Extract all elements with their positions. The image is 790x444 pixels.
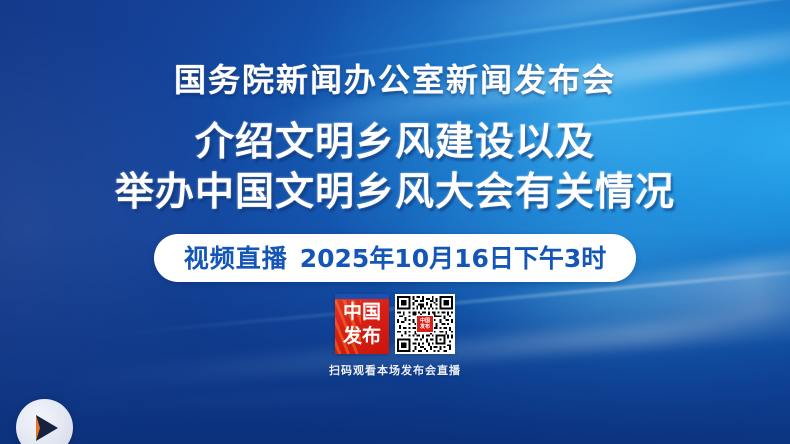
play-icon (36, 415, 58, 441)
broadcast-poster: 国务院新闻办公室新闻发布会 介绍文明乡风建设以及 举办中国文明乡风大会有关情况 … (0, 0, 790, 444)
logo-line-1: 中国 (335, 303, 389, 322)
live-broadcast-badge: 视频直播 2025年10月16日下午3时 (154, 234, 637, 282)
brand-and-qr-group: 中国 发布 (335, 294, 455, 354)
qr-center-line-2: 发布 (420, 324, 430, 330)
poster-subtitle-line-2: 举办中国文明乡风大会有关情况 (115, 168, 675, 218)
live-badge-label: 视频直播 (184, 239, 288, 275)
china-release-logo: 中国 发布 (335, 294, 389, 354)
qr-center-logo: 中国 发布 (416, 315, 434, 333)
qr-code[interactable]: 中国 发布 (395, 294, 455, 354)
live-badge-datetime: 2025年10月16日下午3时 (300, 239, 607, 275)
poster-subtitle: 介绍文明乡风建设以及 举办中国文明乡风大会有关情况 (115, 118, 675, 218)
logo-line-2: 发布 (335, 327, 389, 346)
poster-content: 国务院新闻办公室新闻发布会 介绍文明乡风建设以及 举办中国文明乡风大会有关情况 … (0, 0, 790, 444)
page-title: 国务院新闻办公室新闻发布会 (174, 64, 616, 96)
poster-subtitle-line-1: 介绍文明乡风建设以及 (115, 118, 675, 168)
scan-caption: 扫码观看本场发布会直播 (329, 362, 461, 378)
